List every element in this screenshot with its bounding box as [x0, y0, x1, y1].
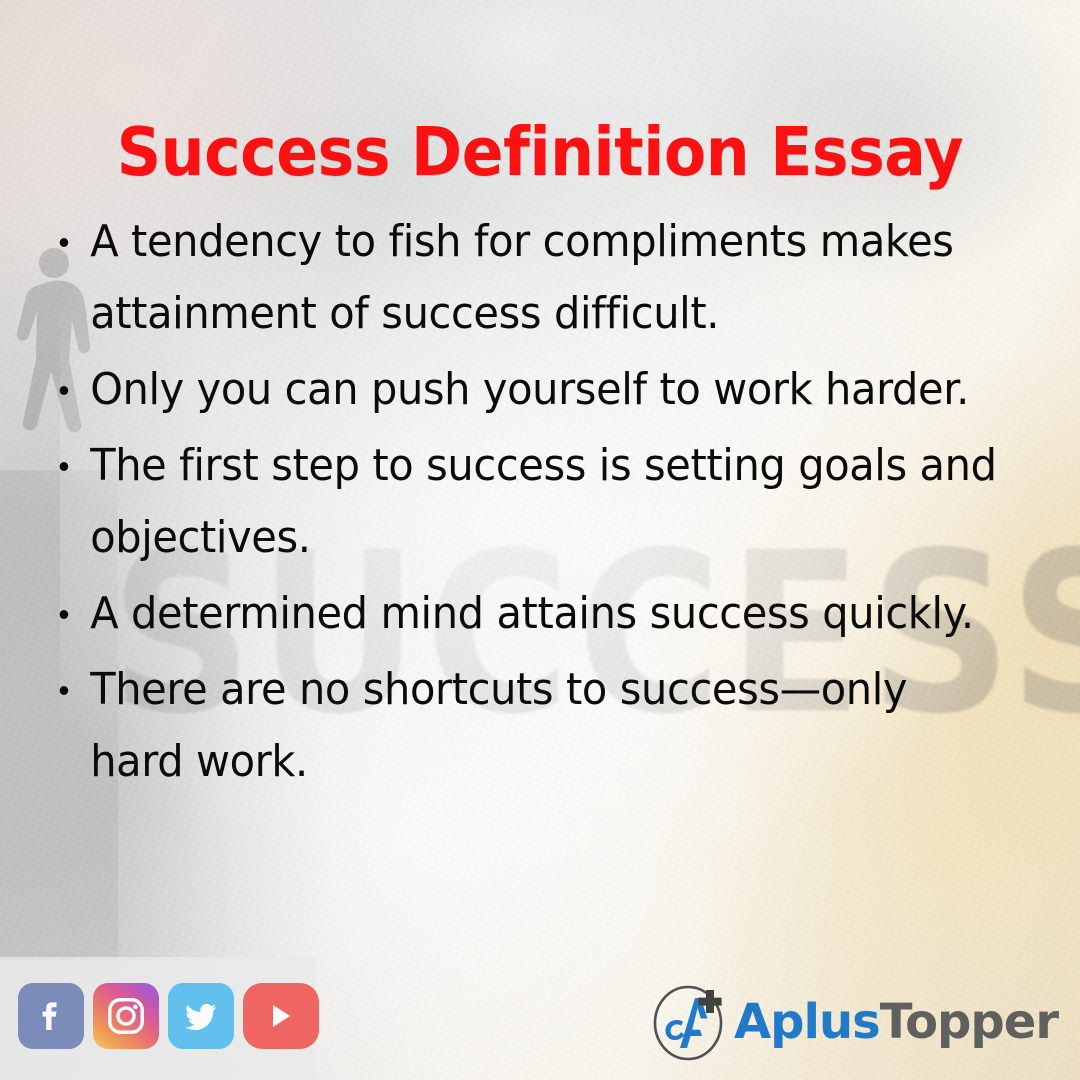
list-item: The first step to success is setting goa…	[52, 430, 1007, 574]
twitter-icon[interactable]	[168, 983, 234, 1049]
aplustopper-logo[interactable]: AplusTopper	[650, 982, 1058, 1062]
youtube-icon[interactable]	[243, 983, 319, 1049]
list-item: A tendency to fish for compliments makes…	[52, 206, 1007, 350]
list-item: Only you can push yourself to work harde…	[52, 354, 1007, 426]
bullet-list: A tendency to fish for compliments makes…	[52, 206, 1052, 802]
page-title: Success Definition Essay	[43, 113, 1037, 191]
facebook-icon[interactable]	[18, 983, 84, 1049]
list-item: There are no shortcuts to success—only h…	[52, 654, 1007, 798]
twitter-bird-glyph	[180, 995, 222, 1037]
aplus-circle-mark-icon	[650, 982, 730, 1062]
instagram-icon[interactable]	[93, 983, 159, 1049]
youtube-play-glyph	[266, 999, 296, 1033]
poster-canvas: SUCCESS Success Definition Essay A tende…	[0, 0, 1080, 1080]
brand-name-primary: Aplus	[734, 994, 880, 1050]
brand-wordmark: AplusTopper	[734, 998, 1058, 1046]
facebook-glyph	[31, 996, 71, 1036]
instagram-glyph	[105, 995, 147, 1037]
list-item: A determined mind attains success quickl…	[52, 578, 1007, 650]
poster-content: Success Definition Essay A tendency to f…	[0, 0, 1080, 1080]
brand-name-secondary: Topper	[880, 994, 1058, 1050]
social-links	[18, 983, 319, 1049]
